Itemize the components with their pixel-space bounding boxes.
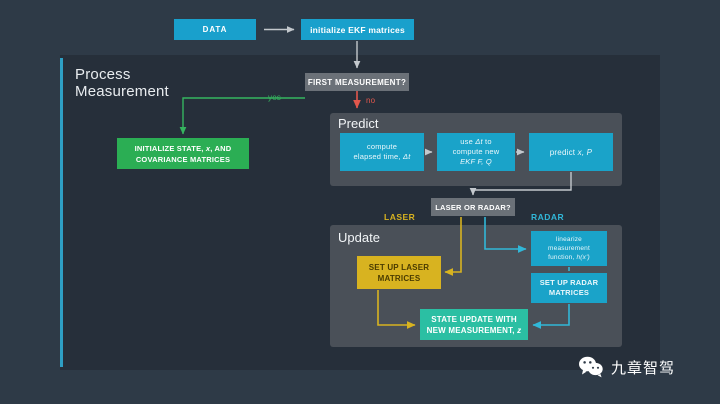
setup-laser-line2: MATRICES (378, 274, 421, 283)
panel-accent-bar (60, 58, 63, 367)
node-initialize-ekf-matrices[interactable]: initialize EKF matrices (301, 19, 414, 40)
use-dt-line1b: to (483, 137, 492, 146)
update-panel-title: Update (338, 230, 380, 245)
compute-dt-line1: compute (367, 142, 397, 151)
node-linearize-measurement-function[interactable]: linearize measurement function, h(x') (531, 231, 607, 266)
use-dt-line2: compute new (453, 147, 500, 156)
edge-label-laser: LASER (384, 212, 415, 222)
watermark: 九章智驾 (578, 356, 675, 378)
edge-label-no: no (366, 96, 375, 105)
predict-xp-var: x, P (578, 148, 593, 157)
linearize-line2: measurement (548, 245, 590, 252)
node-initialize-state-covariance[interactable]: INITIALIZE STATE, x, AND COVARIANCE MATR… (117, 138, 249, 169)
edge-label-radar: RADAR (531, 212, 564, 222)
state-update-line1: STATE UPDATE WITH (431, 315, 517, 324)
linearize-line1: linearize (556, 236, 582, 243)
node-state-update-new-measurement[interactable]: STATE UPDATE WITH NEW MEASUREMENT, z (420, 309, 528, 340)
diagram-canvas: Process Measurement Predict Update (0, 0, 720, 404)
edge-label-yes: yes (268, 93, 281, 102)
use-dt-var: Δt (475, 137, 483, 146)
init-state-line1: INITIALIZE STATE, (135, 144, 206, 153)
use-dt-line1a: use (460, 137, 475, 146)
node-laser-or-radar-decision[interactable]: LASER OR RADAR? (431, 198, 515, 216)
state-update-line2: NEW MEASUREMENT, (427, 326, 518, 335)
node-data[interactable]: DATA (174, 19, 256, 40)
compute-dt-line2: elapsed time, (353, 152, 403, 161)
use-dt-line3: EKF F, Q (460, 157, 492, 166)
linearize-var: h(x') (576, 254, 589, 261)
node-setup-radar-matrices[interactable]: SET UP RADAR MATRICES (531, 273, 607, 303)
init-state-line1b: , AND (210, 144, 231, 153)
setup-radar-line1: SET UP RADAR (540, 278, 599, 287)
node-compute-elapsed-time[interactable]: compute elapsed time, Δt (340, 133, 424, 171)
predict-panel-title: Predict (338, 116, 378, 131)
watermark-text: 九章智驾 (611, 357, 675, 378)
init-state-line2: COVARIANCE MATRICES (136, 155, 230, 164)
compute-dt-var: Δt (403, 152, 411, 161)
state-update-var: z (517, 326, 521, 335)
linearize-line3a: function, (548, 254, 576, 261)
node-use-dt-compute-ekf[interactable]: use Δt to compute new EKF F, Q (437, 133, 515, 171)
node-setup-laser-matrices[interactable]: SET UP LASER MATRICES (357, 256, 441, 289)
node-predict-x-p[interactable]: predict x, P (529, 133, 613, 171)
setup-laser-line1: SET UP LASER (369, 263, 430, 272)
wechat-icon (578, 356, 604, 378)
process-measurement-title: Process Measurement (75, 66, 169, 100)
setup-radar-line2: MATRICES (549, 288, 589, 297)
node-first-measurement-decision[interactable]: FIRST MEASUREMENT? (305, 73, 409, 91)
predict-xp-prefix: predict (550, 148, 578, 157)
